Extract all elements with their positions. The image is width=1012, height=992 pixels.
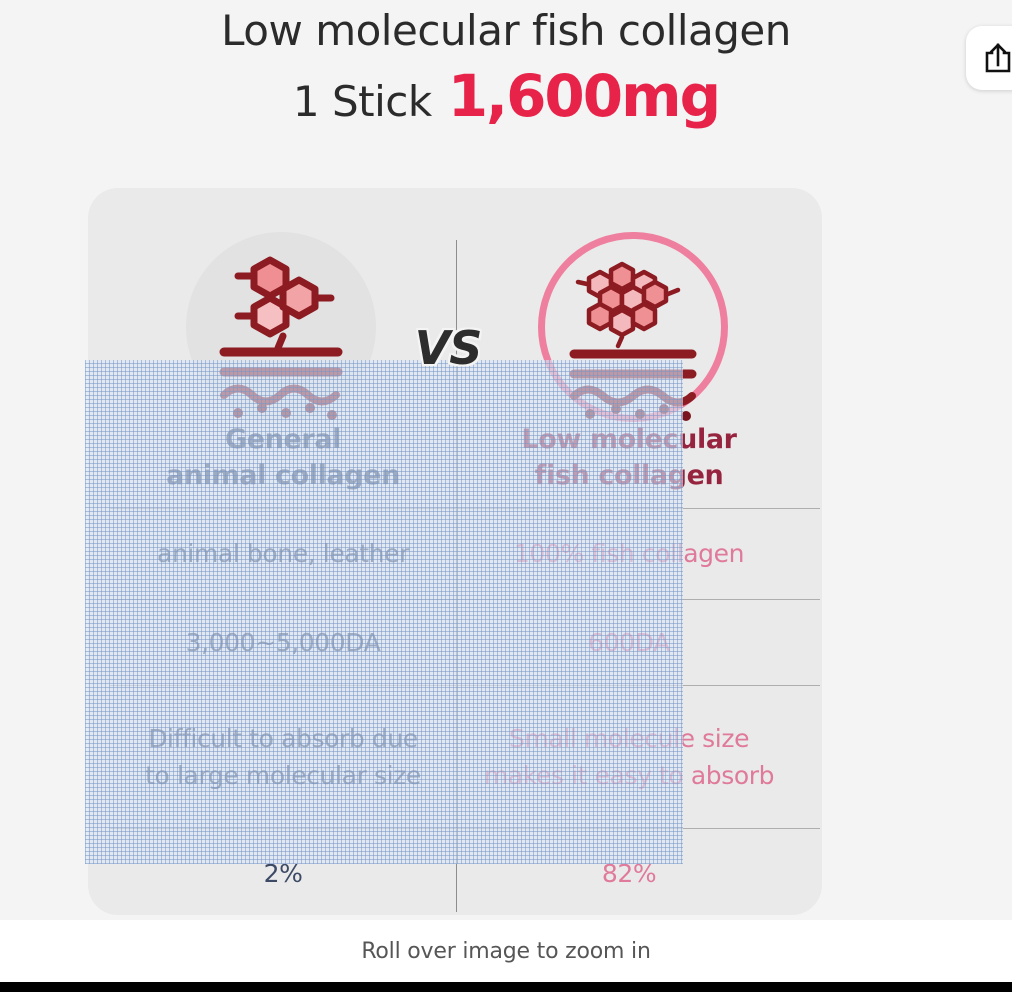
zoom-caption-text: Roll over image to zoom in <box>361 939 650 964</box>
cell-right-absorption-rate: 82% <box>456 855 802 892</box>
cell-left-absorption-line2: to large molecular size <box>110 757 456 794</box>
product-image-viewport: Low molecular fish collagen 1 Stick 1,60… <box>0 0 1012 992</box>
column-header-fish: Low molecular fish collagen <box>456 422 802 494</box>
share-button[interactable] <box>966 26 1012 90</box>
cell-right-absorption: Small molecule size makes it easy to abs… <box>456 720 802 794</box>
cell-left-absorption-line1: Difficult to absorb due <box>110 720 456 757</box>
table-row-absorption: Difficult to absorb due to large molecul… <box>110 685 820 828</box>
cell-right-molecular-size: 600DA <box>456 624 802 661</box>
column-header-general-line2: animal collagen <box>110 458 456 494</box>
table-row-source: animal bone, leather 100% fish collagen <box>110 508 820 599</box>
stick-label: 1 Stick <box>293 66 432 138</box>
share-up-arrow-icon <box>983 42 1012 74</box>
left-illustration <box>186 232 376 422</box>
column-header-fish-line1: Low molecular <box>456 422 802 458</box>
cell-right-absorption-line2: makes it easy to absorb <box>456 757 802 794</box>
right-illustration <box>538 232 728 422</box>
table-header-row: General animal collagen Low molecular fi… <box>110 422 820 508</box>
cell-right-source: 100% fish collagen <box>456 535 802 572</box>
cell-left-absorption: Difficult to absorb due to large molecul… <box>110 720 456 794</box>
vs-badge: VS <box>408 321 488 375</box>
small-hexagon-molecules-on-skin-icon <box>538 232 728 422</box>
product-detail-image[interactable]: Low molecular fish collagen 1 Stick 1,60… <box>0 0 1012 920</box>
headline-block: Low molecular fish collagen 1 Stick 1,60… <box>0 2 1012 138</box>
column-header-general-line1: General <box>110 422 456 458</box>
table-row-molecular-size: 3,000~5,000DA 600DA <box>110 599 820 685</box>
column-header-general: General animal collagen <box>110 422 456 494</box>
cell-left-absorption-rate: 2% <box>110 855 456 892</box>
large-hexagon-molecules-on-skin-icon <box>186 232 376 422</box>
bottom-bar <box>0 982 1012 992</box>
table-row-absorption-rate: 2% 82% <box>110 828 820 919</box>
headline-secondary: 1 Stick 1,600mg <box>0 60 1012 138</box>
dose-amount: 1,600mg <box>448 60 719 132</box>
cell-right-absorption-line1: Small molecule size <box>456 720 802 757</box>
comparison-table: General animal collagen Low molecular fi… <box>110 422 820 919</box>
headline-primary: Low molecular fish collagen <box>0 2 1012 60</box>
zoom-caption: Roll over image to zoom in <box>0 920 1012 982</box>
column-header-fish-line2: fish collagen <box>456 458 802 494</box>
cell-left-molecular-size: 3,000~5,000DA <box>110 624 456 661</box>
comparison-card: VS General animal collagen Low molecular… <box>88 188 822 915</box>
cell-left-source: animal bone, leather <box>110 535 456 572</box>
